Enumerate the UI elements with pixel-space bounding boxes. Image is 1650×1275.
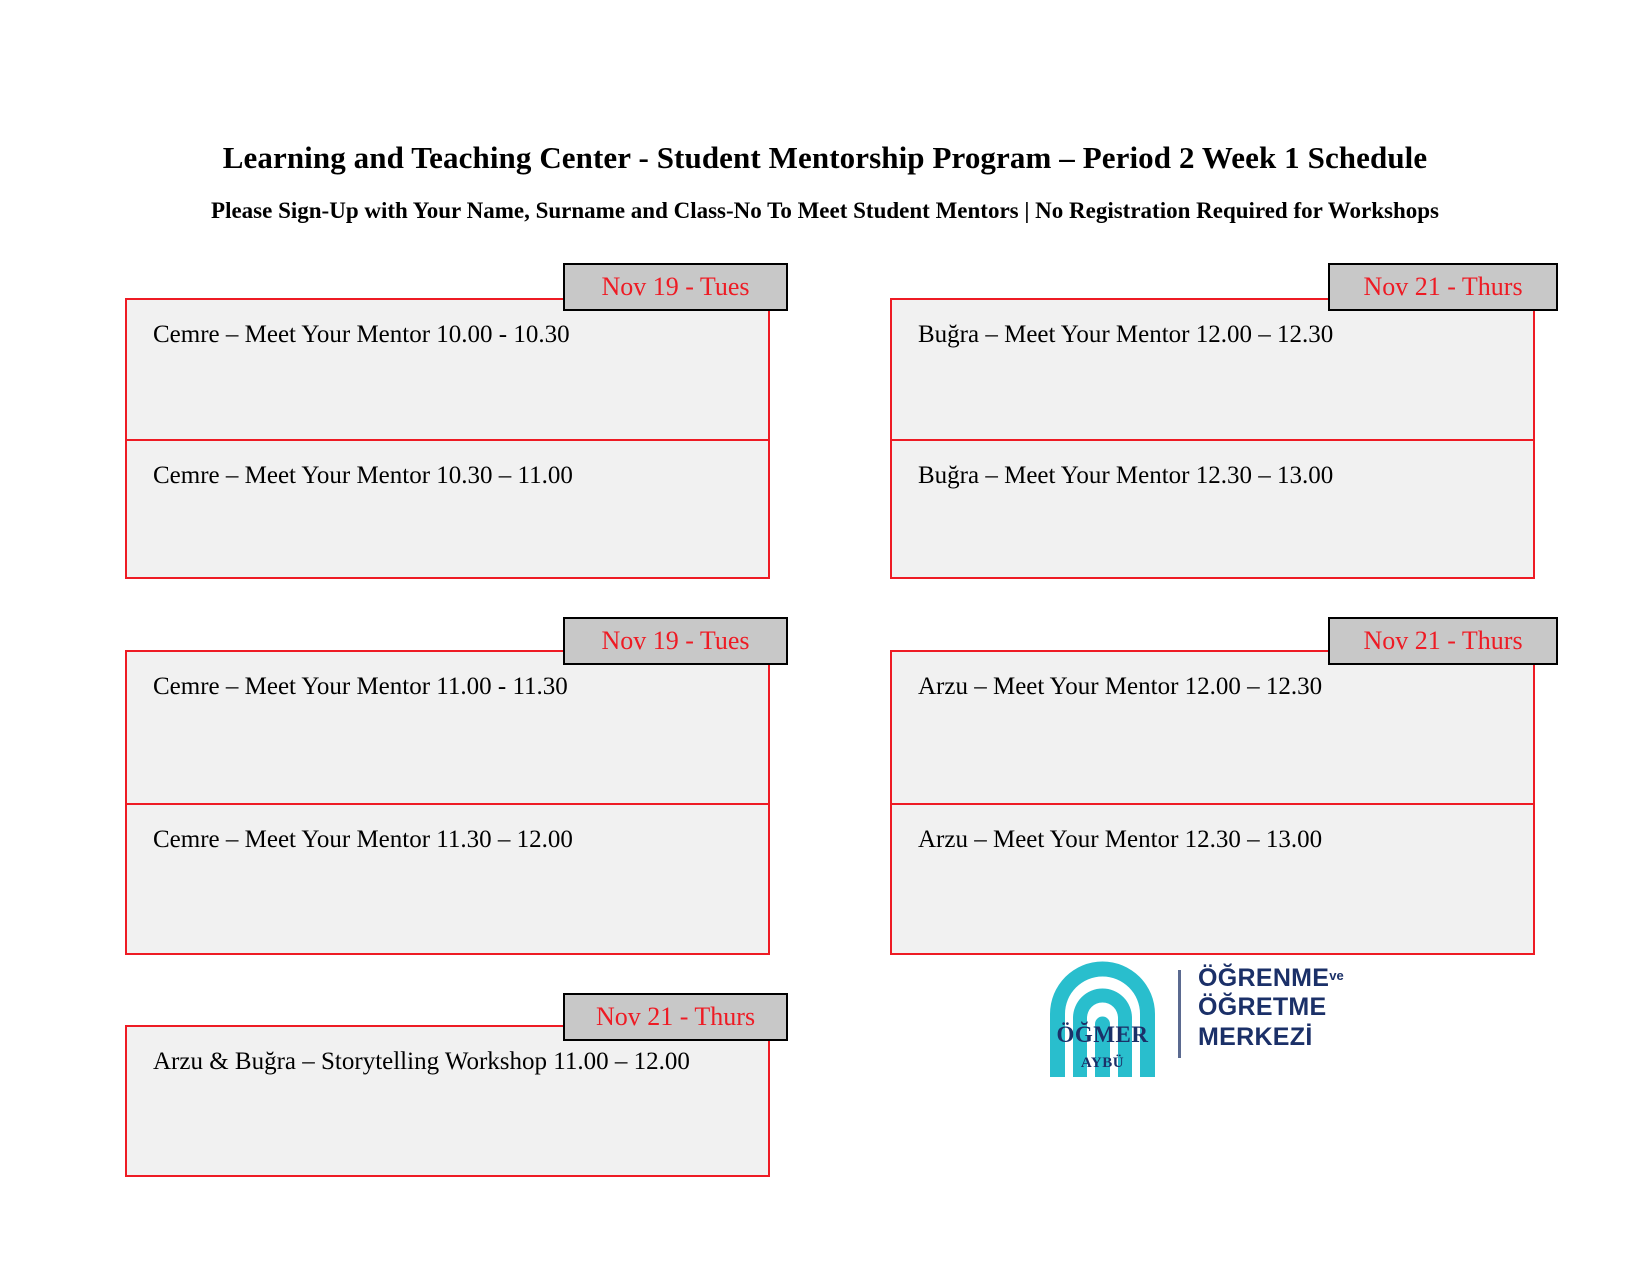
- schedule-slot[interactable]: Cemre – Meet Your Mentor 10.00 - 10.30: [127, 300, 768, 439]
- schedule-card-right-1: Buğra – Meet Your Mentor 12.00 – 12.30 B…: [890, 298, 1535, 579]
- page-title: Learning and Teaching Center - Student M…: [0, 140, 1650, 176]
- schedule-card-left-1: Cemre – Meet Your Mentor 10.00 - 10.30 C…: [125, 298, 770, 579]
- date-tab-left-3[interactable]: Nov 21 - Thurs: [563, 993, 788, 1041]
- date-tab-left-1[interactable]: Nov 19 - Tues: [563, 263, 788, 311]
- schedule-slot[interactable]: Arzu – Meet Your Mentor 12.30 – 13.00: [892, 803, 1533, 954]
- schedule-slot[interactable]: Arzu & Buğra – Storytelling Workshop 11.…: [127, 1027, 768, 1175]
- ogmer-logo: ÖĞMER AYBÜ ÖĞRENMEve ÖĞRETME MERKEZİ: [1040, 952, 1340, 1077]
- schedule-card-left-3: Arzu & Buğra – Storytelling Workshop 11.…: [125, 1025, 770, 1177]
- logo-line1-sup: ve: [1329, 968, 1343, 983]
- slot-text: Cemre – Meet Your Mentor 11.30 – 12.00: [153, 825, 573, 855]
- logo-wordmark: ÖĞRENMEve ÖĞRETME MERKEZİ: [1198, 964, 1344, 1052]
- schedule-slot[interactable]: Cemre – Meet Your Mentor 11.00 - 11.30: [127, 652, 768, 803]
- schedule-slot[interactable]: Cemre – Meet Your Mentor 11.30 – 12.00: [127, 803, 768, 954]
- schedule-slot[interactable]: Buğra – Meet Your Mentor 12.00 – 12.30: [892, 300, 1533, 439]
- slot-text: Arzu – Meet Your Mentor 12.30 – 13.00: [918, 825, 1322, 855]
- schedule-slot[interactable]: Arzu – Meet Your Mentor 12.00 – 12.30: [892, 652, 1533, 803]
- slot-text: Cemre – Meet Your Mentor 11.00 - 11.30: [153, 672, 568, 702]
- date-tab-right-1[interactable]: Nov 21 - Thurs: [1328, 263, 1558, 311]
- date-tab-right-2[interactable]: Nov 21 - Thurs: [1328, 617, 1558, 665]
- logo-divider: [1178, 970, 1181, 1058]
- logo-wordmark-line-3: MERKEZİ: [1198, 1023, 1344, 1052]
- schedule-slot[interactable]: Cemre – Meet Your Mentor 10.30 – 11.00: [127, 439, 768, 578]
- logo-acronym: ÖĞMER: [1040, 1022, 1165, 1048]
- slot-text: Buğra – Meet Your Mentor 12.30 – 13.00: [918, 461, 1333, 491]
- schedule-card-left-2: Cemre – Meet Your Mentor 11.00 - 11.30 C…: [125, 650, 770, 955]
- logo-wordmark-line-2: ÖĞRETME: [1198, 993, 1344, 1022]
- logo-line1-text: ÖĞRENME: [1198, 964, 1329, 992]
- page-subtitle: Please Sign-Up with Your Name, Surname a…: [0, 198, 1650, 224]
- schedule-slot[interactable]: Buğra – Meet Your Mentor 12.30 – 13.00: [892, 439, 1533, 578]
- slot-text: Cemre – Meet Your Mentor 10.30 – 11.00: [153, 461, 573, 491]
- logo-institution: AYBÜ: [1040, 1055, 1165, 1072]
- slot-text: Buğra – Meet Your Mentor 12.00 – 12.30: [918, 320, 1333, 350]
- schedule-page: Learning and Teaching Center - Student M…: [0, 0, 1650, 1275]
- slot-text: Cemre – Meet Your Mentor 10.00 - 10.30: [153, 320, 570, 350]
- slot-text: Arzu & Buğra – Storytelling Workshop 11.…: [153, 1047, 690, 1077]
- schedule-card-right-2: Arzu – Meet Your Mentor 12.00 – 12.30 Ar…: [890, 650, 1535, 955]
- logo-wordmark-line-1: ÖĞRENMEve: [1198, 964, 1344, 993]
- date-tab-left-2[interactable]: Nov 19 - Tues: [563, 617, 788, 665]
- slot-text: Arzu – Meet Your Mentor 12.00 – 12.30: [918, 672, 1322, 702]
